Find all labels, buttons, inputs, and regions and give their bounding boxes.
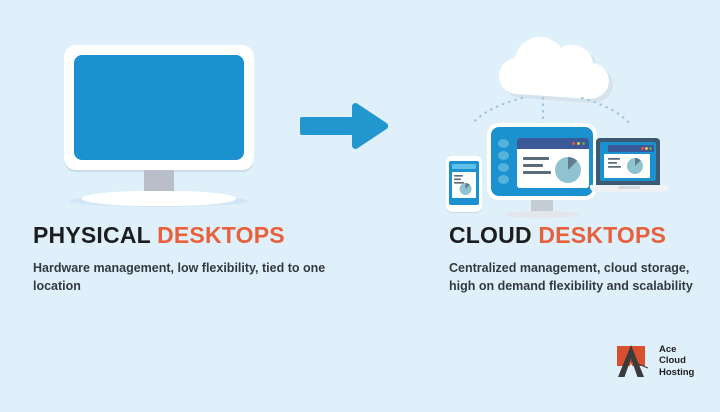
minimize-icon <box>645 147 648 150</box>
sidebar-dot <box>498 163 509 172</box>
laptop-app-window <box>604 154 650 178</box>
logo-line-1: Ace <box>659 344 694 356</box>
laptop-device <box>590 138 668 200</box>
close-icon <box>641 147 644 150</box>
laptop-pie-chart <box>604 154 650 178</box>
sidebar-dot <box>498 139 509 148</box>
laptop-screen <box>600 142 656 181</box>
monitor-bezel <box>64 45 254 170</box>
logo-wordmark: Ace Cloud Hosting <box>659 344 694 379</box>
window-titlebar <box>517 138 589 149</box>
smartphone-device <box>446 156 482 212</box>
cloud-heading-primary: CLOUD <box>449 222 532 248</box>
cloud-monitor-device <box>487 123 597 200</box>
sidebar-dot <box>498 151 509 160</box>
cloud-heading: CLOUD DESKTOPS <box>449 224 699 247</box>
text-placeholder-lines <box>523 157 551 178</box>
text-line <box>523 164 543 167</box>
window-content <box>517 149 589 188</box>
laptop-trackpad-notch <box>618 186 640 189</box>
maximize-icon <box>649 147 652 150</box>
monitor-stand-base <box>82 191 236 206</box>
cloud-description: Centralized management, cloud storage, h… <box>449 259 699 295</box>
physical-heading: PHYSICAL DESKTOPS <box>33 224 333 247</box>
physical-heading-primary: PHYSICAL <box>33 222 150 248</box>
cloud-desktop-illustration <box>430 28 680 203</box>
monitor-screen <box>74 55 244 160</box>
laptop-window-titlebar <box>608 145 654 152</box>
cloud-desktop-text: CLOUD DESKTOPS Centralized management, c… <box>449 224 699 295</box>
device-group <box>430 123 680 205</box>
physical-description: Hardware management, low flexibility, ti… <box>33 259 333 295</box>
physical-heading-accent: DESKTOPS <box>157 222 285 248</box>
physical-desktop-illustration <box>64 45 254 200</box>
maximize-icon <box>582 142 585 145</box>
monitor-app-window <box>517 138 589 188</box>
smartphone-pie-chart <box>452 172 476 198</box>
transition-arrow <box>300 103 390 149</box>
logo-line-3: Hosting <box>659 367 694 379</box>
laptop-lid <box>596 138 660 185</box>
dotted-connectors <box>472 98 630 126</box>
ace-cloud-hosting-logo-icon <box>617 344 653 378</box>
monitor-pie-chart <box>552 153 584 185</box>
minimize-icon <box>577 142 580 145</box>
cloud-icon <box>430 28 680 128</box>
physical-desktop-text: PHYSICAL DESKTOPS Hardware management, l… <box>33 224 333 295</box>
smartphone-window <box>452 172 476 198</box>
text-line <box>523 171 551 174</box>
cloud-monitor-base <box>505 211 579 218</box>
arrow-right-icon <box>300 103 390 149</box>
smartphone-screen <box>449 161 479 205</box>
text-line <box>523 157 549 160</box>
brand-logo: Ace Cloud Hosting <box>617 340 709 382</box>
logo-line-2: Cloud <box>659 355 694 367</box>
sidebar-dot <box>498 175 509 184</box>
cloud-heading-accent: DESKTOPS <box>538 222 666 248</box>
logo-mark-svg <box>617 344 653 378</box>
smartphone-statusbar <box>452 164 476 169</box>
close-icon <box>572 142 575 145</box>
infographic-canvas: PHYSICAL DESKTOPS Hardware management, l… <box>0 0 720 412</box>
monitor-sidebar-dots <box>498 139 509 191</box>
